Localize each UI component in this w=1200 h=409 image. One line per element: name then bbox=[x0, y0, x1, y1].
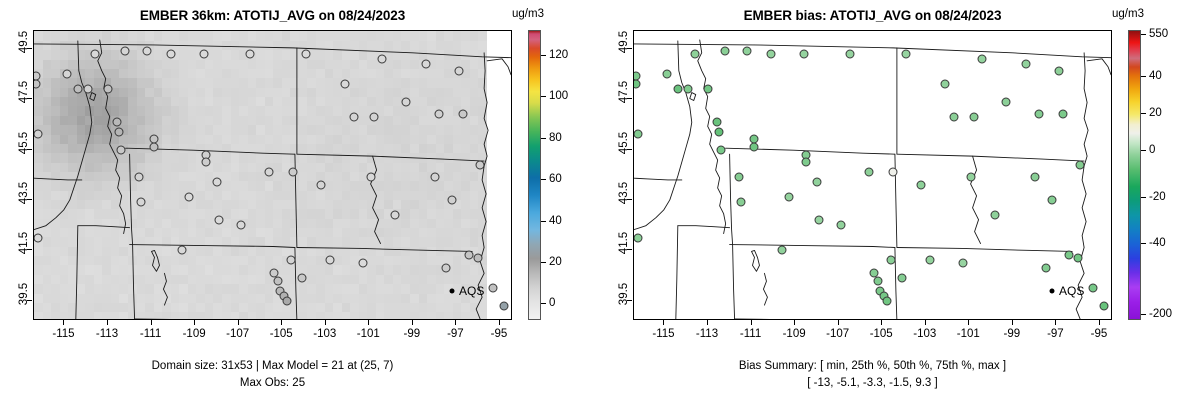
bias-marker bbox=[714, 127, 723, 136]
bias-marker bbox=[634, 130, 643, 139]
bias-marker bbox=[836, 221, 845, 230]
x-axis-tick bbox=[325, 320, 326, 325]
observation-marker bbox=[90, 49, 99, 58]
y-axis-tick-label: 43.5 bbox=[18, 193, 30, 217]
bias-panel-title: EMBER bias: ATOTIJ_AVG on 08/24/2023 bbox=[600, 8, 1145, 23]
x-axis-tick-label: -105 bbox=[270, 328, 293, 340]
colorbar-tick bbox=[1141, 150, 1146, 151]
colorbar-tick-label: 40 bbox=[1149, 70, 1162, 82]
model-panel: EMBER 36km: ATOTIJ_AVG on 08/24/2023 AQS… bbox=[0, 0, 600, 409]
x-axis-tick-label: -107 bbox=[226, 328, 249, 340]
observation-marker bbox=[402, 97, 411, 106]
colorbar-tick-label: -20 bbox=[1149, 191, 1166, 203]
x-axis-tick bbox=[412, 320, 413, 325]
bias-marker bbox=[845, 49, 854, 58]
observation-marker bbox=[84, 85, 93, 94]
x-axis-tick-label: -101 bbox=[957, 328, 980, 340]
observation-marker bbox=[167, 49, 176, 58]
observation-marker bbox=[341, 79, 350, 88]
bias-marker bbox=[1002, 97, 1011, 106]
observation-marker bbox=[441, 264, 450, 273]
x-axis-tick-label: -111 bbox=[740, 328, 761, 340]
bias-marker bbox=[1041, 264, 1050, 273]
bias-marker bbox=[749, 143, 758, 152]
x-axis-tick-label: -113 bbox=[696, 328, 718, 340]
observation-marker bbox=[114, 127, 123, 136]
observation-marker bbox=[212, 178, 221, 187]
bias-marker bbox=[633, 79, 641, 88]
colorbar-tick-label: 120 bbox=[549, 49, 568, 61]
observation-marker bbox=[184, 193, 193, 202]
bias-marker bbox=[991, 211, 1000, 220]
x-axis-tick bbox=[281, 320, 282, 325]
observation-marker bbox=[273, 276, 282, 285]
colorbar-tick bbox=[1141, 34, 1146, 35]
observation-marker bbox=[34, 130, 43, 139]
x-axis-tick-label: -97 bbox=[447, 328, 464, 340]
bias-marker bbox=[634, 233, 643, 242]
colorbar-tick-label: 550 bbox=[1149, 28, 1168, 40]
bias-marker bbox=[662, 69, 671, 78]
bias-marker bbox=[950, 112, 959, 121]
observation-marker bbox=[367, 173, 376, 182]
colorbar-tick bbox=[541, 179, 546, 180]
y-axis-tick-label: 39.5 bbox=[618, 294, 630, 318]
x-axis-tick bbox=[63, 320, 64, 325]
colorbar-tick bbox=[1141, 197, 1146, 198]
observation-marker bbox=[476, 160, 485, 169]
x-axis-tick-label: -105 bbox=[870, 328, 893, 340]
bias-marker bbox=[967, 173, 976, 182]
observation-marker bbox=[236, 221, 245, 230]
bias-marker bbox=[1021, 59, 1030, 68]
x-axis-tick-label: -103 bbox=[913, 328, 936, 340]
x-axis-tick bbox=[663, 320, 664, 325]
figure-root: EMBER 36km: ATOTIJ_AVG on 08/24/2023 AQS… bbox=[0, 0, 1200, 409]
bias-marker bbox=[1034, 110, 1043, 119]
observation-marker bbox=[199, 49, 208, 58]
bias-observation-markers bbox=[634, 31, 1111, 319]
observation-marker bbox=[326, 256, 335, 265]
colorbar-tick bbox=[1141, 76, 1146, 77]
x-axis-tick-label: -109 bbox=[783, 328, 806, 340]
observation-marker bbox=[489, 284, 498, 293]
y-axis-tick-label: 45.5 bbox=[618, 143, 630, 167]
x-axis-tick bbox=[238, 320, 239, 325]
colorbar-tick bbox=[1141, 314, 1146, 315]
observation-marker bbox=[73, 85, 82, 94]
x-axis-tick-label: -103 bbox=[313, 328, 336, 340]
bias-marker bbox=[1065, 251, 1074, 260]
observation-marker bbox=[458, 110, 467, 119]
colorbar-tick-label: 20 bbox=[549, 256, 562, 268]
x-axis-tick bbox=[194, 320, 195, 325]
colorbar-tick-label: 0 bbox=[1149, 144, 1155, 156]
observation-marker bbox=[474, 253, 483, 262]
x-axis-tick bbox=[1012, 320, 1013, 325]
observation-marker bbox=[104, 85, 113, 94]
observation-marker bbox=[202, 158, 211, 167]
bias-marker bbox=[767, 49, 776, 58]
observation-marker bbox=[302, 49, 311, 58]
bias-marker bbox=[743, 47, 752, 56]
bias-marker bbox=[1048, 195, 1057, 204]
colorbar-tick-label: 40 bbox=[549, 215, 562, 227]
x-axis-tick bbox=[925, 320, 926, 325]
bias-marker bbox=[958, 259, 967, 268]
x-axis-tick bbox=[794, 320, 795, 325]
bias-marker bbox=[917, 180, 926, 189]
bias-marker bbox=[1089, 284, 1098, 293]
colorbar-tick-label: 80 bbox=[549, 132, 562, 144]
bias-marker bbox=[941, 79, 950, 88]
bias-marker bbox=[926, 256, 935, 265]
bias-marker bbox=[902, 49, 911, 58]
bias-marker bbox=[812, 178, 821, 187]
x-axis-tick-label: -95 bbox=[491, 328, 508, 340]
x-axis-tick bbox=[1099, 320, 1100, 325]
bias-colorbar-units: ug/m3 bbox=[1112, 8, 1144, 20]
x-axis-tick bbox=[751, 320, 752, 325]
bias-marker bbox=[1030, 173, 1039, 182]
bias-marker bbox=[1058, 110, 1067, 119]
bias-marker bbox=[784, 193, 793, 202]
x-axis-tick bbox=[1055, 320, 1056, 325]
y-axis-tick-label: 41.5 bbox=[18, 243, 30, 267]
colorbar-tick bbox=[541, 96, 546, 97]
colorbar-tick bbox=[1141, 113, 1146, 114]
colorbar-tick bbox=[541, 262, 546, 263]
observation-marker bbox=[245, 49, 254, 58]
bias-marker bbox=[673, 85, 682, 94]
model-map-plot[interactable]: AQS bbox=[33, 30, 512, 320]
aqs-legend-dot bbox=[1050, 288, 1055, 293]
bias-marker bbox=[865, 168, 874, 177]
x-axis-tick-label: -99 bbox=[1004, 328, 1021, 340]
bias-marker bbox=[802, 158, 811, 167]
bias-marker bbox=[799, 49, 808, 58]
bias-marker bbox=[717, 145, 726, 154]
x-axis-tick-label: -101 bbox=[357, 328, 380, 340]
observation-marker bbox=[149, 143, 158, 152]
observation-marker bbox=[134, 173, 143, 182]
observation-marker bbox=[317, 180, 326, 189]
x-axis-tick-label: -107 bbox=[826, 328, 849, 340]
x-axis-tick-label: -113 bbox=[96, 328, 118, 340]
model-colorbar-gradient bbox=[528, 30, 541, 320]
observation-marker bbox=[500, 301, 509, 310]
colorbar-tick-label: 0 bbox=[549, 297, 555, 309]
y-axis-tick-label: 47.5 bbox=[18, 92, 30, 116]
model-caption-line1: Domain size: 31x53 | Max Model = 21 at (… bbox=[0, 360, 545, 372]
observation-marker bbox=[454, 67, 463, 76]
x-axis-tick-label: -115 bbox=[52, 328, 74, 340]
colorbar-tick bbox=[541, 221, 546, 222]
observation-marker bbox=[297, 274, 306, 283]
bias-marker bbox=[690, 49, 699, 58]
observation-marker bbox=[430, 173, 439, 182]
colorbar-tick-label: 60 bbox=[549, 173, 562, 185]
observation-marker bbox=[112, 117, 121, 126]
observation-marker bbox=[358, 259, 367, 268]
colorbar-tick-label: 100 bbox=[549, 90, 568, 102]
x-axis-tick bbox=[455, 320, 456, 325]
observation-marker bbox=[378, 54, 387, 63]
y-axis-tick-label: 43.5 bbox=[618, 193, 630, 217]
bias-colorbar-gradient bbox=[1128, 30, 1141, 320]
bias-caption-line2: [ -13, -5.1, -3.3, -1.5, 9.3 ] bbox=[600, 377, 1145, 389]
y-axis-tick-label: 49.5 bbox=[618, 42, 630, 66]
x-axis-tick bbox=[499, 320, 500, 325]
colorbar-tick bbox=[541, 138, 546, 139]
observation-marker bbox=[369, 112, 378, 121]
aqs-legend-label: AQS bbox=[459, 284, 484, 298]
colorbar-tick bbox=[541, 303, 546, 304]
bias-marker bbox=[684, 85, 693, 94]
model-panel-title: EMBER 36km: ATOTIJ_AVG on 08/24/2023 bbox=[0, 8, 545, 23]
bias-marker bbox=[736, 198, 745, 207]
bias-caption-line1: Bias Summary: [ min, 25th %, 50th %, 75t… bbox=[600, 360, 1145, 372]
observation-marker bbox=[136, 198, 145, 207]
bias-marker bbox=[704, 85, 713, 94]
observation-marker bbox=[421, 59, 430, 68]
bias-marker bbox=[712, 117, 721, 126]
bias-marker bbox=[1054, 67, 1063, 76]
y-axis-tick-label: 45.5 bbox=[18, 143, 30, 167]
bias-marker bbox=[734, 173, 743, 182]
observation-marker bbox=[286, 256, 295, 265]
observation-marker bbox=[143, 47, 152, 56]
observation-marker bbox=[289, 168, 298, 177]
observation-marker bbox=[62, 69, 71, 78]
observation-marker bbox=[34, 233, 43, 242]
bias-marker bbox=[969, 112, 978, 121]
x-axis-tick bbox=[881, 320, 882, 325]
colorbar-tick-label: -40 bbox=[1149, 237, 1166, 249]
x-axis-tick bbox=[838, 320, 839, 325]
bias-marker bbox=[1074, 253, 1083, 262]
model-observation-markers bbox=[34, 31, 511, 319]
observation-marker bbox=[33, 79, 41, 88]
x-axis-tick bbox=[151, 320, 152, 325]
model-colorbar-units: ug/m3 bbox=[512, 8, 544, 20]
observation-marker bbox=[178, 246, 187, 255]
y-axis-tick-label: 47.5 bbox=[618, 92, 630, 116]
bias-marker bbox=[1100, 301, 1109, 310]
y-axis-tick-label: 39.5 bbox=[18, 294, 30, 318]
observation-marker bbox=[215, 216, 224, 225]
bias-map-plot[interactable]: AQS bbox=[633, 30, 1112, 320]
model-caption-line2: Max Obs: 25 bbox=[0, 377, 545, 389]
x-axis-tick-label: -115 bbox=[652, 328, 674, 340]
colorbar-tick-label: 20 bbox=[1149, 107, 1162, 119]
aqs-legend-dot bbox=[450, 288, 455, 293]
bias-panel: EMBER bias: ATOTIJ_AVG on 08/24/2023 AQS… bbox=[600, 0, 1200, 409]
colorbar-tick bbox=[541, 55, 546, 56]
x-axis-tick-label: -99 bbox=[404, 328, 421, 340]
observation-marker bbox=[391, 211, 400, 220]
x-axis-tick bbox=[968, 320, 969, 325]
aqs-legend-label: AQS bbox=[1059, 284, 1084, 298]
bias-marker bbox=[815, 216, 824, 225]
bias-marker bbox=[978, 54, 987, 63]
x-axis-tick-label: -111 bbox=[140, 328, 161, 340]
y-axis-tick-label: 49.5 bbox=[18, 42, 30, 66]
bias-marker bbox=[873, 276, 882, 285]
colorbar-tick-label: -200 bbox=[1149, 308, 1172, 320]
observation-marker bbox=[265, 168, 274, 177]
bias-marker bbox=[886, 256, 895, 265]
y-axis-tick-label: 41.5 bbox=[618, 243, 630, 267]
bias-marker bbox=[882, 296, 891, 305]
bias-marker bbox=[721, 47, 730, 56]
observation-marker bbox=[350, 112, 359, 121]
x-axis-tick bbox=[107, 320, 108, 325]
observation-marker bbox=[434, 110, 443, 119]
x-axis-tick-label: -95 bbox=[1091, 328, 1108, 340]
observation-marker bbox=[282, 296, 291, 305]
observation-marker bbox=[117, 145, 126, 154]
bias-marker bbox=[778, 246, 787, 255]
x-axis-tick bbox=[707, 320, 708, 325]
bias-marker bbox=[889, 168, 898, 177]
observation-marker bbox=[121, 47, 130, 56]
x-axis-tick bbox=[368, 320, 369, 325]
observation-marker bbox=[448, 195, 457, 204]
bias-marker bbox=[1076, 160, 1085, 169]
observation-marker bbox=[465, 251, 474, 260]
x-axis-tick-label: -109 bbox=[183, 328, 206, 340]
bias-marker bbox=[897, 274, 906, 283]
x-axis-tick-label: -97 bbox=[1047, 328, 1064, 340]
colorbar-tick bbox=[1141, 243, 1146, 244]
